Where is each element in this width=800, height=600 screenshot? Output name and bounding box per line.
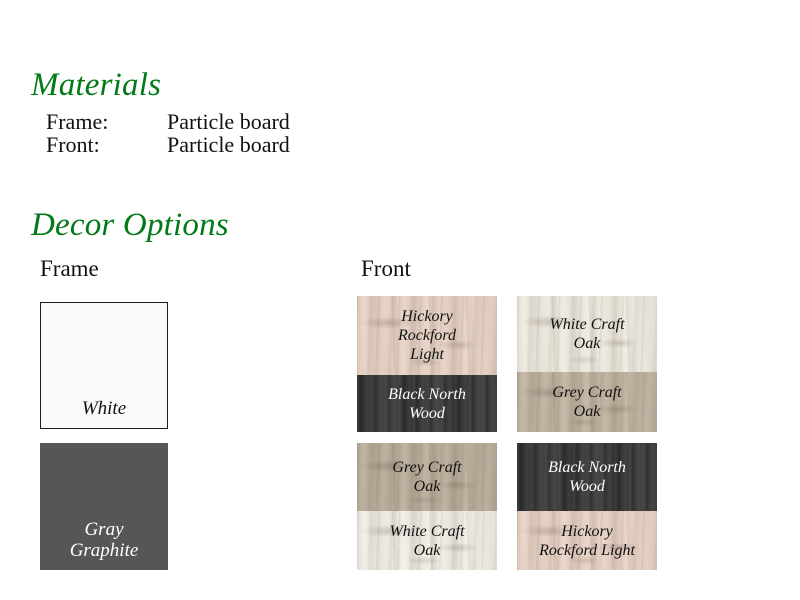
- frame-swatch-label: Gray Graphite: [70, 519, 139, 561]
- wood-band-top[interactable]: White Craft Oak: [517, 296, 657, 372]
- spec-row: Frame: Particle board: [46, 110, 466, 133]
- column-header-frame: Frame: [40, 256, 99, 282]
- wood-band-top[interactable]: Grey Craft Oak: [357, 443, 497, 511]
- frame-swatch-gray-graphite[interactable]: Gray Graphite: [40, 443, 168, 570]
- decor-options-heading: Decor Options: [31, 206, 229, 244]
- wood-band-label: Black North Wood: [384, 385, 470, 423]
- front-tile[interactable]: Grey Craft OakWhite Craft Oak: [357, 443, 497, 570]
- materials-spec-list: Frame: Particle board Front: Particle bo…: [46, 110, 466, 156]
- wood-band-label: Hickory Rockford Light: [535, 522, 639, 560]
- frame-swatch-white[interactable]: White: [40, 302, 168, 429]
- wood-band-label: Grey Craft Oak: [388, 458, 465, 496]
- frame-swatch-label: White: [82, 398, 126, 419]
- column-header-front: Front: [361, 256, 411, 282]
- front-tile[interactable]: Hickory Rockford LightBlack North Wood: [357, 296, 497, 432]
- spec-label-frame: Frame:: [46, 110, 167, 133]
- front-tile[interactable]: Black North WoodHickory Rockford Light: [517, 443, 657, 570]
- wood-band-top[interactable]: Black North Wood: [517, 443, 657, 511]
- wood-band-bottom[interactable]: White Craft Oak: [357, 511, 497, 570]
- wood-band-bottom[interactable]: Hickory Rockford Light: [517, 511, 657, 570]
- materials-heading: Materials: [31, 66, 161, 104]
- wood-band-label: White Craft Oak: [545, 315, 628, 353]
- wood-band-label: Black North Wood: [544, 458, 630, 496]
- wood-band-label: White Craft Oak: [385, 522, 468, 560]
- decor-spec-page: Materials Frame: Particle board Front: P…: [0, 0, 800, 600]
- wood-band-bottom[interactable]: Grey Craft Oak: [517, 372, 657, 432]
- spec-row: Front: Particle board: [46, 133, 466, 156]
- wood-band-label: Hickory Rockford Light: [394, 307, 460, 364]
- spec-label-front: Front:: [46, 133, 167, 156]
- wood-band-top[interactable]: Hickory Rockford Light: [357, 296, 497, 375]
- wood-band-bottom[interactable]: Black North Wood: [357, 375, 497, 432]
- spec-value-frame: Particle board: [167, 110, 290, 133]
- wood-band-label: Grey Craft Oak: [548, 383, 625, 421]
- spec-value-front: Particle board: [167, 133, 290, 156]
- front-tile[interactable]: White Craft OakGrey Craft Oak: [517, 296, 657, 432]
